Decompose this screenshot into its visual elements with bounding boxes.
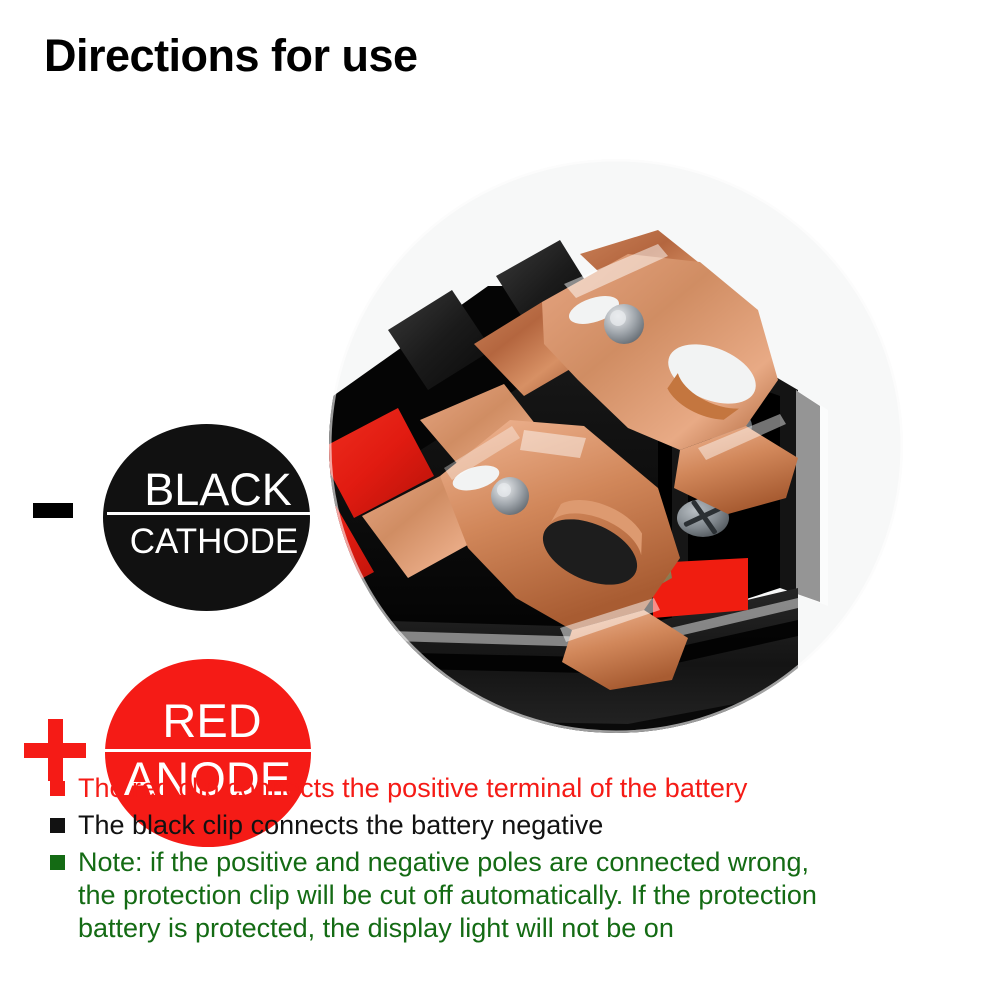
- photo-clipped-content: [328, 158, 908, 738]
- red-clip-rivet: [491, 477, 529, 515]
- bullet-square-red: [50, 781, 65, 796]
- note-black-line-1: The black clip connects the battery nega…: [78, 809, 964, 842]
- cathode-badge-line2: CATHODE: [103, 524, 325, 559]
- red-clip-rivet-highlight: [497, 483, 511, 497]
- black-clip-rivet-highlight: [610, 310, 626, 326]
- cathode-badge: BLACK CATHODE: [103, 424, 310, 611]
- product-photo: [328, 158, 908, 738]
- note-item-green: Note: if the positive and negative poles…: [44, 846, 964, 945]
- note-item-red: The red clip connects the positive termi…: [44, 772, 964, 805]
- page-title: Directions for use: [44, 33, 418, 78]
- note-green-line-2: the protection clip will be cut off auto…: [78, 879, 964, 912]
- note-green-line-3: battery is protected, the display light …: [78, 912, 964, 945]
- instruction-sheet: Directions for use BLACK CATHODE RED ANO…: [0, 0, 1000, 1000]
- product-photo-illustration: [328, 158, 908, 738]
- black-clip-rivet: [604, 304, 644, 344]
- note-green-line-1: Note: if the positive and negative poles…: [78, 846, 964, 879]
- cathode-badge-line1: BLACK: [103, 467, 333, 512]
- battery-right-highlight: [796, 390, 828, 606]
- polarity-legend: BLACK CATHODE RED ANODE: [0, 200, 330, 670]
- instruction-notes: The red clip connects the positive termi…: [44, 772, 964, 949]
- cathode-badge-divider: [107, 512, 319, 515]
- bullet-square-black: [50, 818, 65, 833]
- note-red-line-1: The red clip connects the positive termi…: [78, 772, 964, 805]
- cathode-badge-inner: BLACK CATHODE: [103, 424, 310, 611]
- anode-badge-line1: RED: [105, 697, 319, 744]
- bullet-square-green: [50, 855, 65, 870]
- minus-sign-icon: [33, 503, 73, 518]
- note-item-black: The black clip connects the battery nega…: [44, 809, 964, 842]
